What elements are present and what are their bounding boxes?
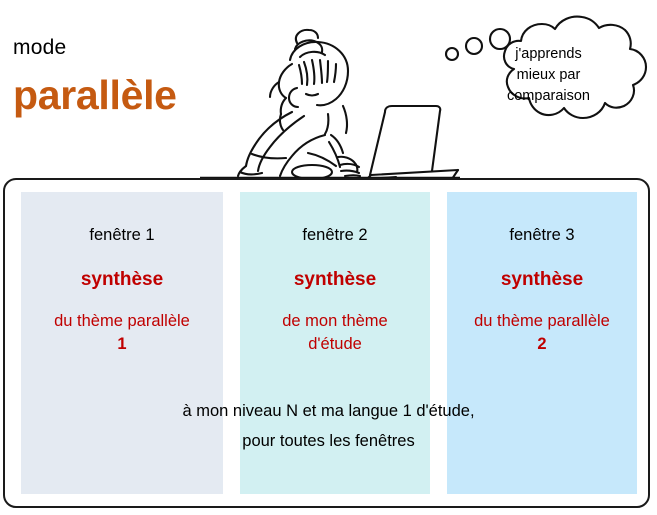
page-title: parallèle xyxy=(13,71,177,119)
window-columns: fenêtre 1 synthèse du thème parallèle 1 … xyxy=(5,180,648,506)
window-2-heading: fenêtre 2 xyxy=(240,224,430,246)
parallel-mode-panel: fenêtre 1 synthèse du thème parallèle 1 … xyxy=(3,178,650,508)
panel-footer-line-2: pour toutes les fenêtres xyxy=(5,426,652,456)
window-3-detail-line-1: du thème parallèle xyxy=(474,312,610,330)
thought-bubble-line-2: mieux par xyxy=(517,67,581,83)
window-3-synthesis-label: synthèse xyxy=(447,268,637,292)
thought-bubble-line-3: comparaison xyxy=(507,88,590,104)
window-3-detail: du thème parallèle 2 xyxy=(447,310,637,356)
window-2-synthesis-label: synthèse xyxy=(240,268,430,292)
mode-label: mode xyxy=(13,36,66,60)
thought-bubble-line-1: j'apprends xyxy=(515,46,581,62)
window-2-detail-line-2: d'étude xyxy=(308,335,362,353)
window-2-detail: de mon thème d'étude xyxy=(240,310,430,356)
window-1-heading: fenêtre 1 xyxy=(21,224,223,246)
window-1-detail-line-2: 1 xyxy=(117,335,126,353)
person-thinking-at-laptop-illustration xyxy=(200,2,460,178)
thought-bubble-text: j'apprends mieux par comparaison xyxy=(440,44,657,107)
window-3-heading: fenêtre 3 xyxy=(447,224,637,246)
window-1-synthesis-label: synthèse xyxy=(21,268,223,292)
panel-footer-note: à mon niveau N et ma langue 1 d'étude, p… xyxy=(5,396,652,456)
panel-footer-line-1: à mon niveau N et ma langue 1 d'étude, xyxy=(5,396,652,426)
window-1-detail: du thème parallèle 1 xyxy=(21,310,223,356)
window-1-detail-line-1: du thème parallèle xyxy=(54,312,190,330)
window-3-detail-line-2: 2 xyxy=(537,335,546,353)
window-2-detail-line-1: de mon thème xyxy=(282,312,387,330)
thought-bubble: j'apprends mieux par comparaison xyxy=(440,6,657,141)
header-area: mode parallèle xyxy=(0,0,657,178)
